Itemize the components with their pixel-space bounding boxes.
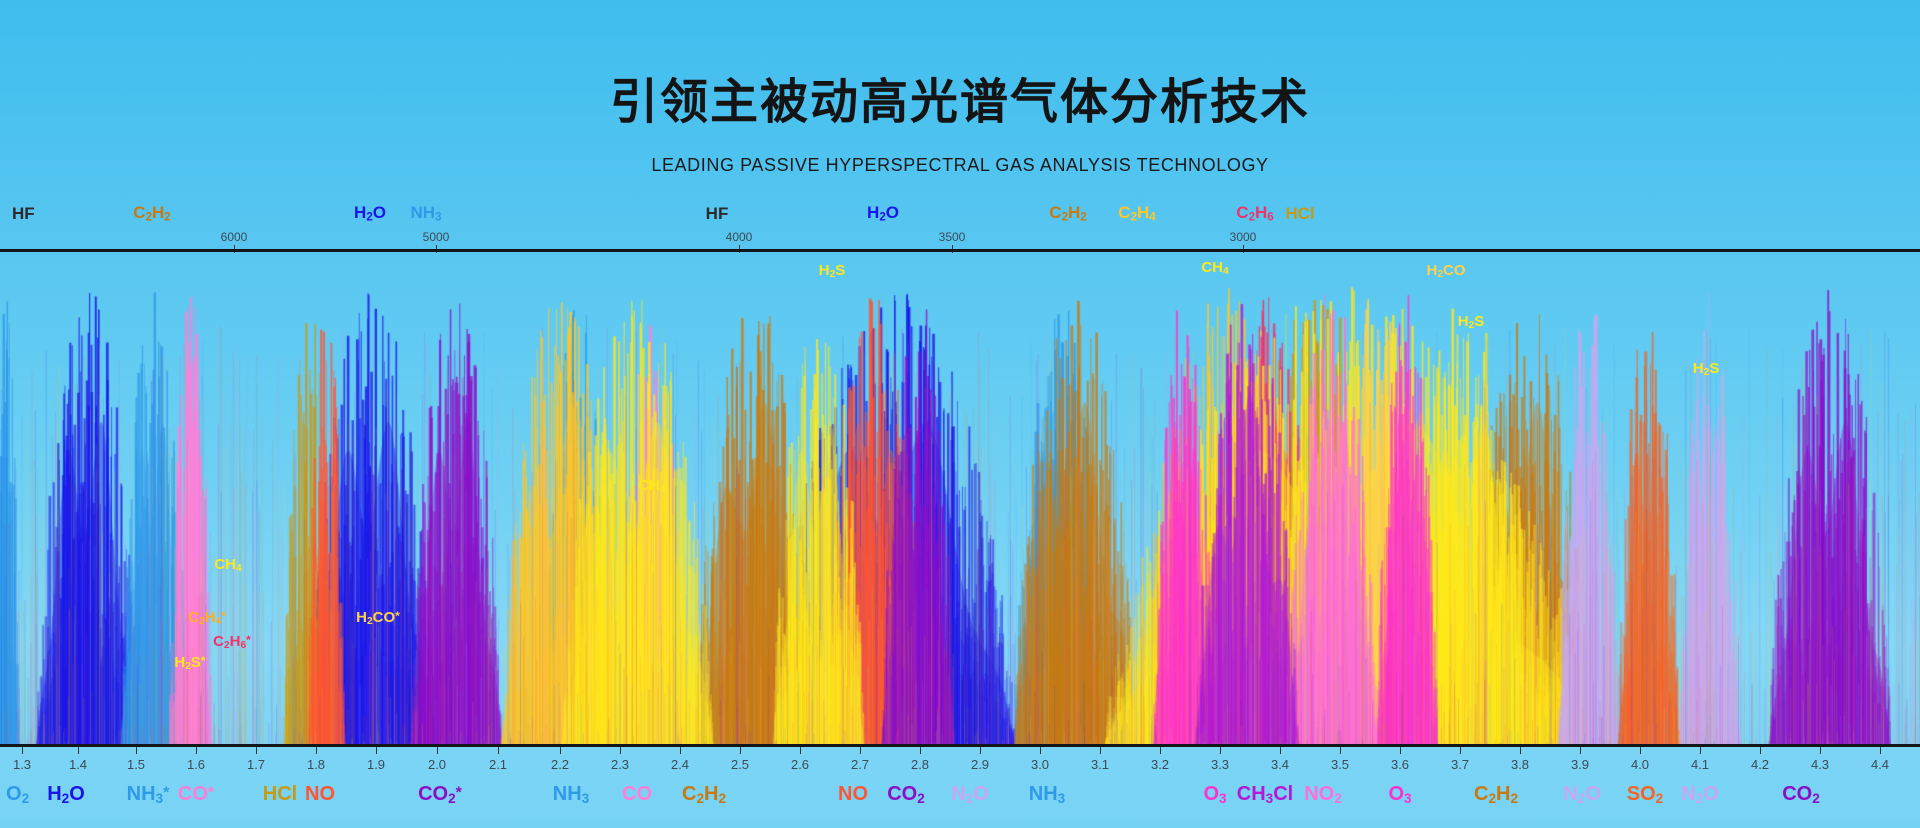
- bottom-tick-label: 1.3: [13, 757, 31, 772]
- bottom-tick-mark: [437, 747, 438, 754]
- bottom-gas-label: H2O: [47, 783, 85, 806]
- top-tick-label: 3000: [1230, 230, 1257, 244]
- bottom-tick-label: 1.9: [367, 757, 385, 772]
- bottom-tick-label: 3.7: [1451, 757, 1469, 772]
- top-gas-label: H2O: [867, 203, 899, 224]
- bottom-tick-label: 3.2: [1151, 757, 1169, 772]
- bottom-tick-label: 4.1: [1691, 757, 1709, 772]
- bottom-tick-mark: [1460, 747, 1461, 754]
- bottom-gas-label: NO: [838, 783, 868, 806]
- bottom-gas-label: O3: [1388, 783, 1411, 806]
- bottom-tick-mark: [920, 747, 921, 754]
- bottom-tick-mark: [256, 747, 257, 754]
- bottom-tick-mark: [1520, 747, 1521, 754]
- page-subtitle: LEADING PASSIVE HYPERSPECTRAL GAS ANALYS…: [0, 155, 1920, 176]
- bottom-gas-label: N2O: [1681, 783, 1719, 806]
- bottom-gas-label: NO2: [1304, 783, 1342, 806]
- page-title: 引领主被动高光谱气体分析技术: [0, 62, 1920, 132]
- bottom-gas-label: N2O: [1563, 783, 1601, 806]
- bottom-tick-label: 1.8: [307, 757, 325, 772]
- bottom-gas-label: NH3: [1029, 783, 1065, 806]
- bottom-tick-mark: [78, 747, 79, 754]
- bottom-gas-label: CO2*: [418, 783, 462, 806]
- top-gas-label: HF: [12, 204, 35, 224]
- bottom-gas-label: NH3: [553, 783, 589, 806]
- bottom-tick-mark: [1880, 747, 1881, 754]
- header: 引领主被动高光谱气体分析技术 LEADING PASSIVE HYPERSPEC…: [0, 0, 1920, 200]
- top-tick-label: 3500: [939, 230, 966, 244]
- bottom-tick-mark: [740, 747, 741, 754]
- bottom-tick-label: 3.3: [1211, 757, 1229, 772]
- bottom-tick-mark: [196, 747, 197, 754]
- bottom-gas-label: CH3Cl: [1237, 783, 1293, 806]
- bottom-tick-label: 3.5: [1331, 757, 1349, 772]
- spectrum-plot: H2SCH4H2COH2SH2SCH4CH4C2H4*C2H6*H2S*H2CO…: [0, 252, 1920, 744]
- bottom-tick-mark: [1400, 747, 1401, 754]
- bottom-tick-label: 2.1: [489, 757, 507, 772]
- bottom-gas-label: C2H2: [682, 783, 726, 806]
- top-gas-label: HCl: [1285, 204, 1314, 224]
- bottom-tick-label: 2.5: [731, 757, 749, 772]
- bottom-tick-mark: [800, 747, 801, 754]
- bottom-tick-label: 3.8: [1511, 757, 1529, 772]
- bottom-gas-label: O3: [1203, 783, 1226, 806]
- bottom-tick-mark: [1040, 747, 1041, 754]
- bottom-gas-label: CO2: [887, 783, 925, 806]
- hyperspectral-banner: 引领主被动高光谱气体分析技术 LEADING PASSIVE HYPERSPEC…: [0, 0, 1920, 828]
- bottom-tick-mark: [680, 747, 681, 754]
- bottom-tick-mark: [1760, 747, 1761, 754]
- bottom-gas-label: CO2: [1782, 783, 1820, 806]
- bottom-tick-mark: [1820, 747, 1821, 754]
- bottom-tick-mark: [620, 747, 621, 754]
- bottom-tick-label: 2.0: [428, 757, 446, 772]
- bottom-tick-label: 1.7: [247, 757, 265, 772]
- bottom-tick-mark: [1160, 747, 1161, 754]
- bottom-tick-label: 4.0: [1631, 757, 1649, 772]
- bottom-tick-mark: [376, 747, 377, 754]
- bottom-gas-label: SO2: [1627, 783, 1663, 806]
- bottom-tick-mark: [136, 747, 137, 754]
- bottom-tick-mark: [1640, 747, 1641, 754]
- bottom-tick-label: 4.3: [1811, 757, 1829, 772]
- bottom-tick-label: 3.0: [1031, 757, 1049, 772]
- bottom-tick-label: 2.6: [791, 757, 809, 772]
- top-gas-label: C2H2: [1049, 203, 1086, 224]
- bottom-tick-mark: [1100, 747, 1101, 754]
- bottom-tick-mark: [1280, 747, 1281, 754]
- top-tick-label: 4000: [726, 230, 753, 244]
- bottom-tick-mark: [560, 747, 561, 754]
- bottom-tick-label: 2.9: [971, 757, 989, 772]
- bottom-tick-label: 1.6: [187, 757, 205, 772]
- bottom-tick-label: 3.9: [1571, 757, 1589, 772]
- bottom-tick-mark: [22, 747, 23, 754]
- top-gas-label: C2H4: [1118, 203, 1155, 224]
- bottom-tick-label: 2.4: [671, 757, 689, 772]
- bottom-tick-label: 3.6: [1391, 757, 1409, 772]
- bottom-gas-label: CO*: [178, 783, 214, 806]
- bottom-tick-label: 4.2: [1751, 757, 1769, 772]
- bottom-gas-label: O2: [6, 783, 29, 806]
- top-axis: HFC2H2H2ONH3HFH2OC2H2C2H4C2H6HCl 6000500…: [0, 196, 1920, 256]
- top-gas-label: C2H6: [1236, 203, 1273, 224]
- bottom-tick-mark: [316, 747, 317, 754]
- bottom-tick-mark: [860, 747, 861, 754]
- bottom-tick-mark: [1700, 747, 1701, 754]
- top-gas-label: C2H2: [133, 203, 170, 224]
- top-gas-label: NH3: [411, 203, 442, 224]
- bottom-gas-label: HCl: [263, 783, 297, 806]
- bottom-gas-label: NH3*: [127, 783, 170, 806]
- bottom-tick-mark: [980, 747, 981, 754]
- bottom-tick-label: 2.2: [551, 757, 569, 772]
- bottom-tick-label: 2.3: [611, 757, 629, 772]
- top-tick-label: 5000: [423, 230, 450, 244]
- bottom-tick-label: 1.4: [69, 757, 87, 772]
- bottom-tick-label: 3.1: [1091, 757, 1109, 772]
- bottom-tick-label: 2.8: [911, 757, 929, 772]
- spectrum-canvas: [0, 252, 1920, 744]
- bottom-gas-label: CO: [622, 783, 652, 806]
- bottom-tick-mark: [1580, 747, 1581, 754]
- bottom-tick-mark: [1340, 747, 1341, 754]
- top-tick-label: 6000: [221, 230, 248, 244]
- bottom-tick-label: 4.4: [1871, 757, 1889, 772]
- top-gas-label: HF: [706, 204, 729, 224]
- bottom-tick-mark: [1220, 747, 1221, 754]
- bottom-tick-label: 2.7: [851, 757, 869, 772]
- bottom-tick-mark: [498, 747, 499, 754]
- bottom-gas-label: N2O: [951, 783, 989, 806]
- bottom-tick-label: 1.5: [127, 757, 145, 772]
- bottom-gas-label: C2H2: [1474, 783, 1518, 806]
- bottom-gas-label: NO: [305, 783, 335, 806]
- bottom-axis: 1.31.41.51.61.71.81.92.02.12.22.32.42.52…: [0, 747, 1920, 828]
- top-gas-label: H2O: [354, 203, 386, 224]
- bottom-tick-label: 3.4: [1271, 757, 1289, 772]
